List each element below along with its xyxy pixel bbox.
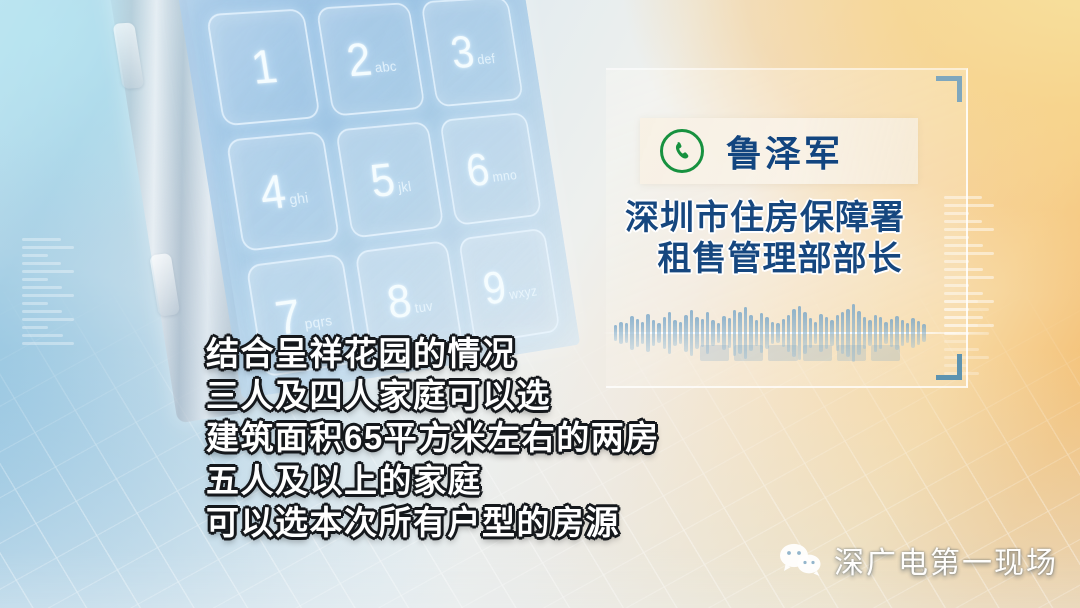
broadcast-frame: 12abc3def4ghi5jkl6mno7pqrs8tuv9wxyz 鲁泽军 … (0, 0, 1080, 608)
keypad-key-digit: 5 (368, 160, 398, 204)
corner-bracket-bottom-right-icon (936, 354, 962, 380)
keypad-key-letters: jkl (397, 179, 413, 201)
keypad-key-letters: ghi (288, 191, 310, 214)
keypad-key-letters: tuv (414, 299, 435, 322)
keypad-key-2: 2abc (316, 2, 425, 116)
phone-handset-icon (660, 129, 704, 173)
subtitle-line-3: 建筑面积65平方米左右的两房 (206, 417, 926, 459)
keypad-key-6: 6mno (439, 112, 542, 226)
phone-keypad: 12abc3def4ghi5jkl6mno7pqrs8tuv9wxyz (206, 0, 561, 378)
guest-title: 深圳市住房保障署 租售管理部部长 (606, 198, 924, 281)
guest-title-line-2: 租售管理部部长 (606, 239, 924, 280)
keypad-key-9: 9wxyz (458, 228, 561, 345)
keypad-key-letters: wxyz (508, 284, 539, 308)
keypad-key-digit: 3 (448, 33, 477, 75)
channel-name: 深广电第一现场 (834, 538, 1058, 582)
corner-bracket-top-right-icon (936, 76, 962, 102)
guest-title-line-1: 深圳市住房保障署 (625, 199, 905, 237)
keypad-key-3: 3def (420, 0, 524, 107)
channel-watermark: 深广电第一现场 (777, 538, 1058, 582)
keypad-key-letters: def (476, 52, 497, 73)
guest-name-banner: 鲁泽军 (640, 118, 918, 184)
subtitle-line-1: 结合呈祥花园的情况 (206, 333, 926, 375)
keypad-key-5: 5jkl (335, 121, 444, 238)
subtitle-block: 结合呈祥花园的情况三人及四人家庭可以选建筑面积65平方米左右的两房五人及以上的家… (206, 333, 926, 544)
subtitle-line-4: 五人及以上的家庭 (206, 460, 926, 502)
guest-name: 鲁泽军 (726, 125, 843, 177)
keypad-key-digit: 9 (480, 267, 509, 311)
keypad-key-digit: 6 (464, 150, 493, 193)
keypad-key-digit: 1 (249, 46, 281, 91)
keypad-key-1: 1 (206, 8, 321, 126)
wechat-icon (777, 542, 823, 578)
keypad-key-4: 4ghi (226, 131, 341, 252)
keypad-key-digit: 8 (385, 280, 415, 325)
keypad-key-digit: 2 (344, 40, 374, 84)
keypad-key-digit: 4 (257, 171, 289, 217)
keypad-key-letters: abc (374, 59, 399, 81)
keypad-key-letters: mno (492, 168, 519, 190)
subtitle-line-2: 三人及四人家庭可以选 (206, 375, 926, 417)
